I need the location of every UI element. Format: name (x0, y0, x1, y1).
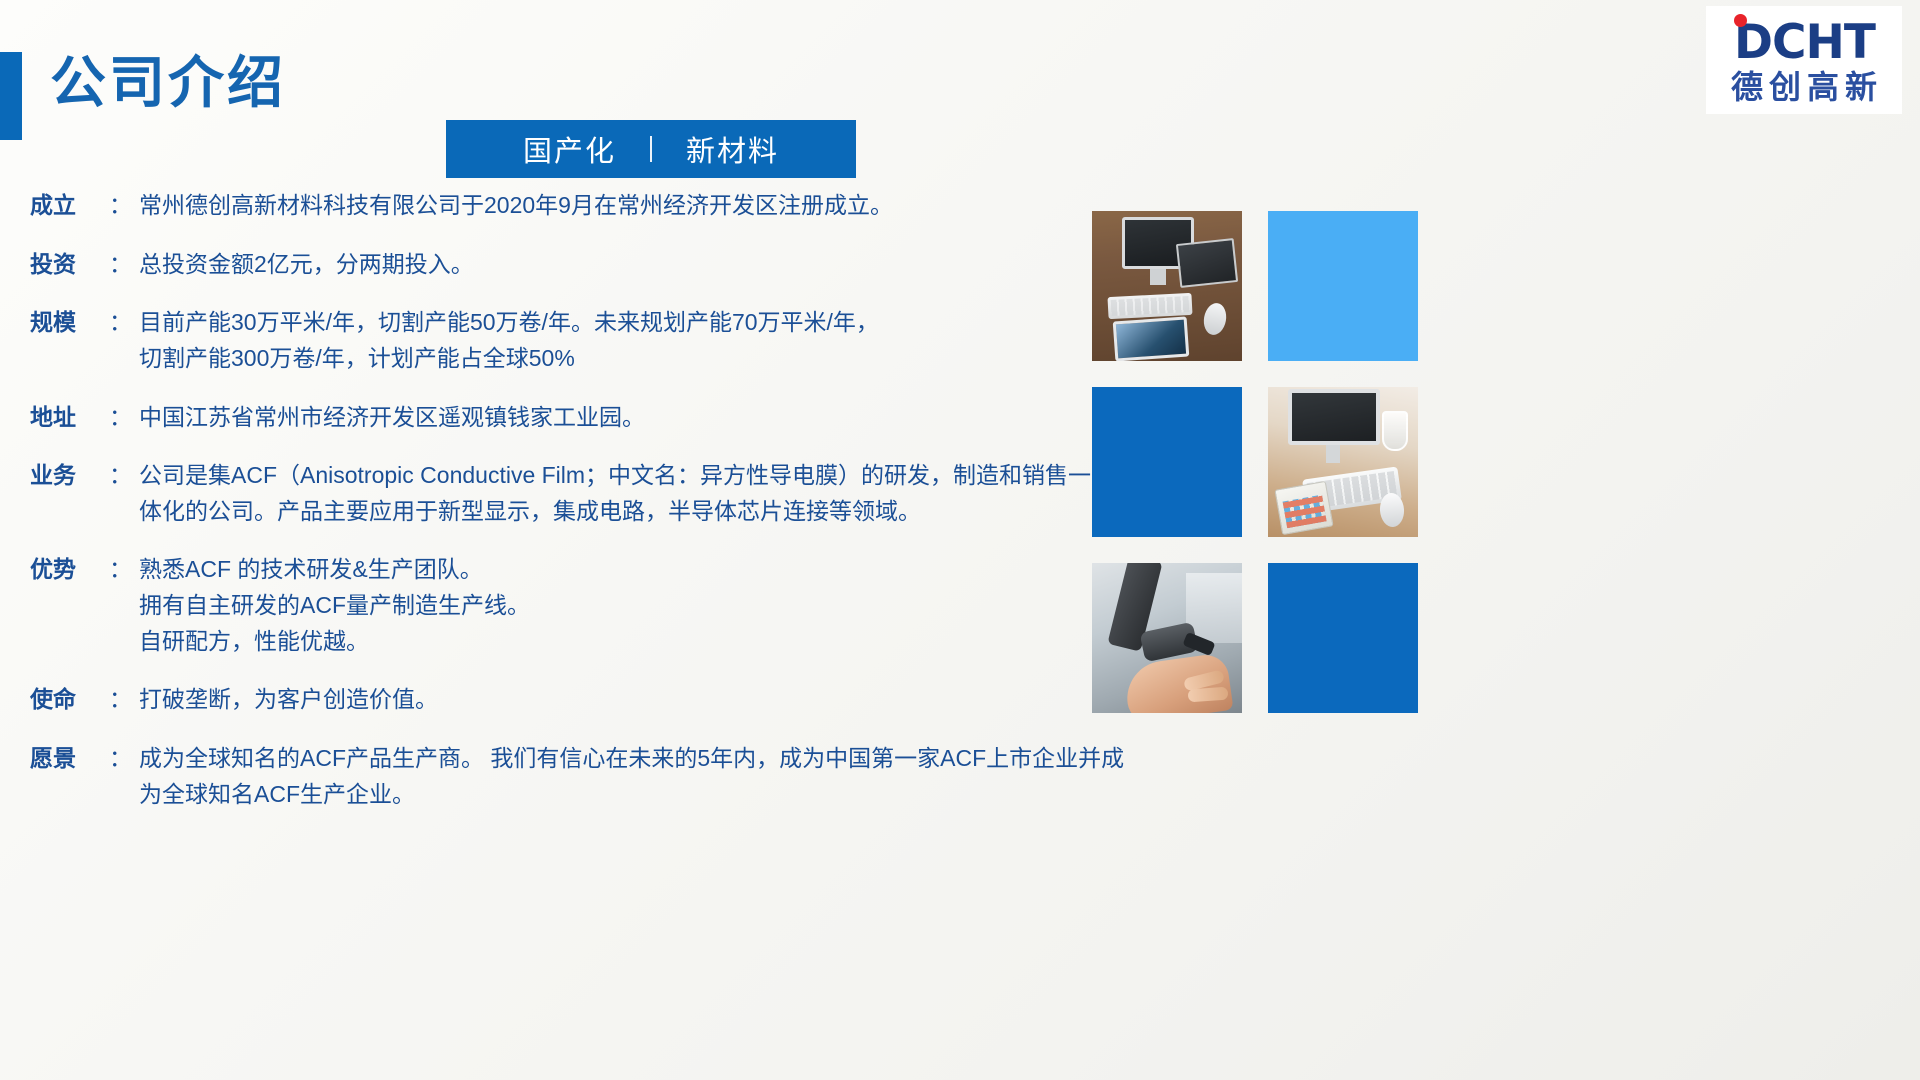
info-row-label: 业务 (30, 458, 108, 494)
info-row: 成立：常州德创高新材料科技有限公司于2020年9月在常州经济开发区注册成立。 (30, 188, 1090, 224)
info-row: 规模：目前产能30万平米/年，切割产能50万卷/年。未来规划产能70万平米/年，… (30, 305, 1090, 376)
info-row-line: 目前产能30万平米/年，切割产能50万卷/年。未来规划产能70万平米/年， (139, 305, 1090, 341)
info-row-colon: ： (108, 188, 139, 224)
info-row-colon: ： (108, 247, 139, 283)
info-row-label: 成立 (30, 188, 108, 224)
info-row-body: 总投资金额2亿元，分两期投入。 (139, 247, 1090, 283)
image-grid (1092, 211, 1418, 713)
info-row-line: 常州德创高新材料科技有限公司于2020年9月在常州经济开发区注册成立。 (139, 188, 1090, 224)
imac-stand-shape (1326, 445, 1340, 463)
imac-stand-shape (1150, 269, 1166, 285)
info-row-colon: ： (108, 458, 139, 494)
calculator-shape (1274, 481, 1333, 535)
info-row: 地址：中国江苏省常州市经济开发区遥观镇钱家工业园。 (30, 400, 1090, 436)
swatch-blue (1092, 387, 1242, 537)
category-banner: 国产化 新材料 (446, 120, 856, 178)
info-row-line: 总投资金额2亿元，分两期投入。 (139, 247, 1090, 283)
swatch-blue-2 (1268, 563, 1418, 713)
info-row-line: 成为全球知名的ACF产品生产商。 我们有信心在未来的5年内，成为中国第一家ACF… (139, 741, 1124, 777)
info-row-label: 投资 (30, 247, 108, 283)
info-row-line: 熟悉ACF 的技术研发&生产团队。 (139, 552, 1090, 588)
info-row-label: 地址 (30, 400, 108, 436)
info-row-body: 中国江苏省常州市经济开发区遥观镇钱家工业园。 (139, 400, 1090, 436)
info-row: 业务：公司是集ACF（Anisotropic Conductive Film；中… (30, 458, 1090, 529)
info-row-colon: ： (108, 741, 139, 777)
info-row-label: 优势 (30, 552, 108, 588)
company-logo: DCHT 德创高新 (1706, 6, 1902, 114)
banner-divider (650, 136, 652, 162)
info-row-line: 拥有自主研发的ACF量产制造生产线。 (139, 588, 1090, 624)
info-row-body: 常州德创高新材料科技有限公司于2020年9月在常州经济开发区注册成立。 (139, 188, 1090, 224)
swatch-light-blue (1268, 211, 1418, 361)
info-row-line: 打破垄断，为客户创造价值。 (139, 682, 1090, 718)
photo-robot-arm-hand (1092, 563, 1242, 713)
glass-shape (1382, 411, 1408, 451)
banner-label-left: 国产化 (523, 128, 616, 170)
laptop-shape (1176, 238, 1238, 288)
finger-shape (1188, 687, 1229, 703)
info-row-line: 中国江苏省常州市经济开发区遥观镇钱家工业园。 (139, 400, 1090, 436)
logo-chinese-name: 德创高新 (1725, 71, 1883, 105)
info-row-label: 使命 (30, 682, 108, 718)
logo-letters: DCHT (1733, 19, 1875, 66)
banner-label-right: 新材料 (686, 128, 779, 170)
keyboard-shape (1107, 293, 1192, 319)
imac-monitor-shape (1288, 389, 1380, 445)
info-row-line: 自研配方，性能优越。 (139, 624, 1090, 660)
info-row-body: 打破垄断，为客户创造价值。 (139, 682, 1090, 718)
info-row: 使命：打破垄断，为客户创造价值。 (30, 682, 1090, 718)
info-row-label: 规模 (30, 305, 108, 341)
mouse-shape (1201, 301, 1228, 336)
title-accent-bar (0, 52, 22, 140)
info-row: 投资：总投资金额2亿元，分两期投入。 (30, 247, 1090, 283)
info-row-line: 公司是集ACF（Anisotropic Conductive Film；中文名：… (139, 458, 1091, 494)
info-row: 优势：熟悉ACF 的技术研发&生产团队。拥有自主研发的ACF量产制造生产线。自研… (30, 552, 1090, 659)
info-row-colon: ： (108, 305, 139, 341)
info-row-line: 为全球知名ACF生产企业。 (139, 777, 1124, 813)
info-row-body: 目前产能30万平米/年，切割产能50万卷/年。未来规划产能70万平米/年，切割产… (139, 305, 1090, 376)
info-row-body: 熟悉ACF 的技术研发&生产团队。拥有自主研发的ACF量产制造生产线。自研配方，… (139, 552, 1090, 659)
page-title: 公司介绍 (50, 48, 286, 118)
logo-wordmark: DCHT (1733, 19, 1875, 66)
info-row-label: 愿景 (30, 741, 108, 777)
info-row-line: 体化的公司。产品主要应用于新型显示，集成电路，半导体芯片连接等领域。 (139, 494, 1091, 530)
photo-desk-imac-laptop-tablet (1092, 211, 1242, 361)
info-row-colon: ： (108, 552, 139, 588)
info-row-colon: ： (108, 400, 139, 436)
info-row: 愿景：成为全球知名的ACF产品生产商。 我们有信心在未来的5年内，成为中国第一家… (30, 741, 1090, 812)
tablet-shape (1113, 316, 1190, 361)
info-row-line: 切割产能300万卷/年，计划产能占全球50% (139, 341, 1090, 377)
info-row-colon: ： (108, 682, 139, 718)
info-row-body: 公司是集ACF（Anisotropic Conductive Film；中文名：… (139, 458, 1091, 529)
info-row-body: 成为全球知名的ACF产品生产商。 我们有信心在未来的5年内，成为中国第一家ACF… (139, 741, 1124, 812)
photo-desk-imac-keyboard-calculator (1268, 387, 1418, 537)
company-info-list: 成立：常州德创高新材料科技有限公司于2020年9月在常州经济开发区注册成立。投资… (30, 188, 1090, 835)
